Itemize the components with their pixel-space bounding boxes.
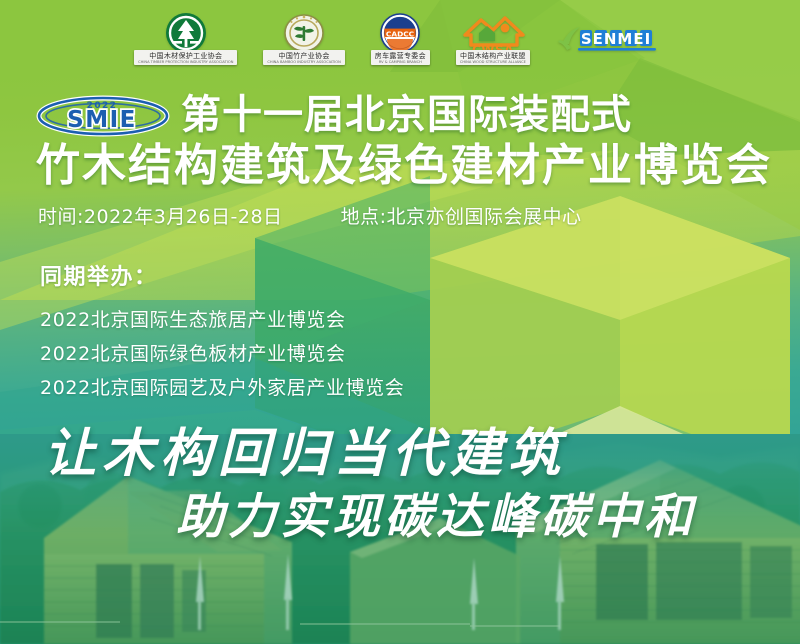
event-venue: 地点:北京亦创国际会展中心 — [341, 204, 582, 230]
concurrent-events-heading: 同期举办： — [40, 263, 404, 293]
senmei-wordmark-icon: SENMEI — [556, 18, 666, 58]
china-timber-association-logo: 中国木材保护工业协会 CHINA TIMBER PROTECTION INDUS… — [134, 11, 237, 65]
smie-oval-wordmark-icon: 2022 SMIE — [36, 92, 171, 138]
bamboo-industry-association-caption: 中国竹产业协会 CHINA BAMBOO INDUSTRY ASSOCIATIO… — [263, 50, 344, 65]
cwsa-wood-structure-alliance-logo: CWSA 中国木结构产业联盟 CHINA WOOD STRUCTURE ALLI… — [456, 11, 530, 65]
china-timber-association-caption: 中国木材保护工业协会 CHINA TIMBER PROTECTION INDUS… — [134, 50, 237, 65]
poster-title-line1: 第十一届北京国际装配式 — [181, 92, 632, 138]
concurrent-events-block: 同期举办： 2022北京国际生态旅居产业博览会 2022北京国际绿色板材产业博览… — [40, 263, 404, 405]
cwsa-wood-structure-alliance-caption: 中国木结构产业联盟 CHINA WOOD STRUCTURE ALLIANCE — [456, 50, 530, 65]
senmei-logo: SENMEI — [556, 18, 666, 58]
smie-acronym-text: SMIE — [67, 107, 137, 133]
poster-title-line2: 竹木结构建筑及绿色建材产业博览会 — [36, 140, 772, 192]
smie-logo: 2022 SMIE — [36, 92, 171, 138]
bamboo-industry-association-logo: 中国竹产业协会 CHINA BAMBOO INDUSTRY ASSOCIATIO… — [263, 11, 344, 65]
slogan-line2: 助力实现碳达峰碳中和 — [176, 487, 696, 547]
slogan-line1: 让木构回归当代建筑 — [44, 422, 566, 486]
concurrent-event-item: 2022北京国际生态旅居产业博览会 — [40, 303, 404, 337]
concurrent-event-item: 2022北京国际绿色板材产业博览会 — [40, 337, 404, 371]
cadcc-rv-camping-committee-caption: 房车露营专委会 RV & CAMPING BRANCH — [371, 50, 430, 65]
event-date: 时间:2022年3月26日-28日 — [38, 204, 283, 230]
svg-text:SENMEI: SENMEI — [581, 30, 651, 48]
concurrent-event-item: 2022北京国际园艺及户外家居产业博览会 — [40, 371, 404, 405]
event-meta-row: 时间:2022年3月26日-28日 地点:北京亦创国际会展中心 — [38, 204, 581, 230]
title-row: 2022 SMIE 第十一届北京国际装配式 — [36, 92, 632, 138]
sponsor-logo-strip: 中国木材保护工业协会 CHINA TIMBER PROTECTION INDUS… — [0, 0, 800, 72]
cadcc-rv-camping-committee-logo: CADCC 房车露营专委会 RV & CAMPING BRANCH — [371, 11, 430, 65]
exhibition-poster: 中国木材保护工业协会 CHINA TIMBER PROTECTION INDUS… — [0, 0, 800, 644]
